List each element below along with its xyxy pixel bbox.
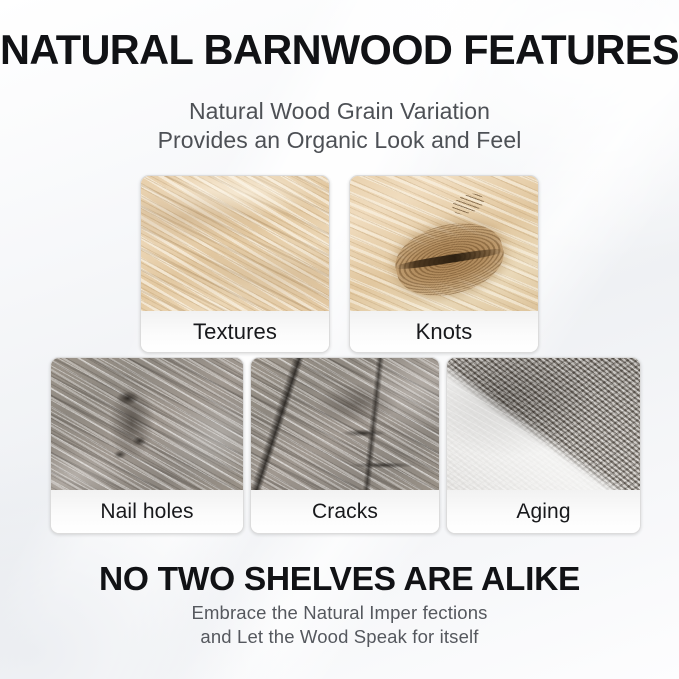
- knot-speck-icon: [450, 191, 486, 218]
- feature-card-aging-label: Aging: [447, 490, 640, 533]
- barnwood-features-infographic: NATURAL BARNWOOD FEATURES Natural Wood G…: [0, 0, 679, 679]
- feature-card-knots-label: Knots: [350, 311, 538, 352]
- crack-texture-icon: [251, 358, 439, 492]
- aged-wood-texture-icon: [447, 358, 640, 492]
- swatch-knots: [350, 176, 538, 313]
- feature-card-knots[interactable]: Knots: [349, 175, 539, 353]
- footer-subtitle-line-1: Embrace the Natural Imper fections: [0, 601, 679, 625]
- feature-card-cracks-label: Cracks: [251, 490, 439, 533]
- page-title: NATURAL BARNWOOD FEATURES: [0, 26, 679, 74]
- swatch-textures: [141, 176, 329, 313]
- feature-card-textures[interactable]: Textures: [140, 175, 330, 353]
- feature-card-nail-holes[interactable]: Nail holes: [50, 357, 244, 534]
- footer-subtitle-line-2: and Let the Wood Speak for itself: [0, 625, 679, 649]
- feature-card-aging[interactable]: Aging: [446, 357, 641, 534]
- header-subtitle-line-1: Natural Wood Grain Variation: [0, 97, 679, 126]
- feature-card-textures-label: Textures: [141, 311, 329, 352]
- footer-title: NO TWO SHELVES ARE ALIKE: [0, 561, 679, 599]
- footer-subtitle: Embrace the Natural Imper fections and L…: [0, 601, 679, 649]
- wood-grain-texture-icon: [141, 176, 329, 313]
- header-subtitle-line-2: Provides an Organic Look and Feel: [0, 126, 679, 155]
- swatch-aging: [447, 358, 640, 492]
- feature-card-nail-holes-label: Nail holes: [51, 490, 243, 533]
- nail-hole-texture-icon: [51, 358, 243, 492]
- wood-knot-texture-icon: [350, 176, 538, 313]
- header-subtitle: Natural Wood Grain Variation Provides an…: [0, 97, 679, 155]
- swatch-nail-holes: [51, 358, 243, 492]
- swatch-cracks: [251, 358, 439, 492]
- feature-card-cracks[interactable]: Cracks: [250, 357, 440, 534]
